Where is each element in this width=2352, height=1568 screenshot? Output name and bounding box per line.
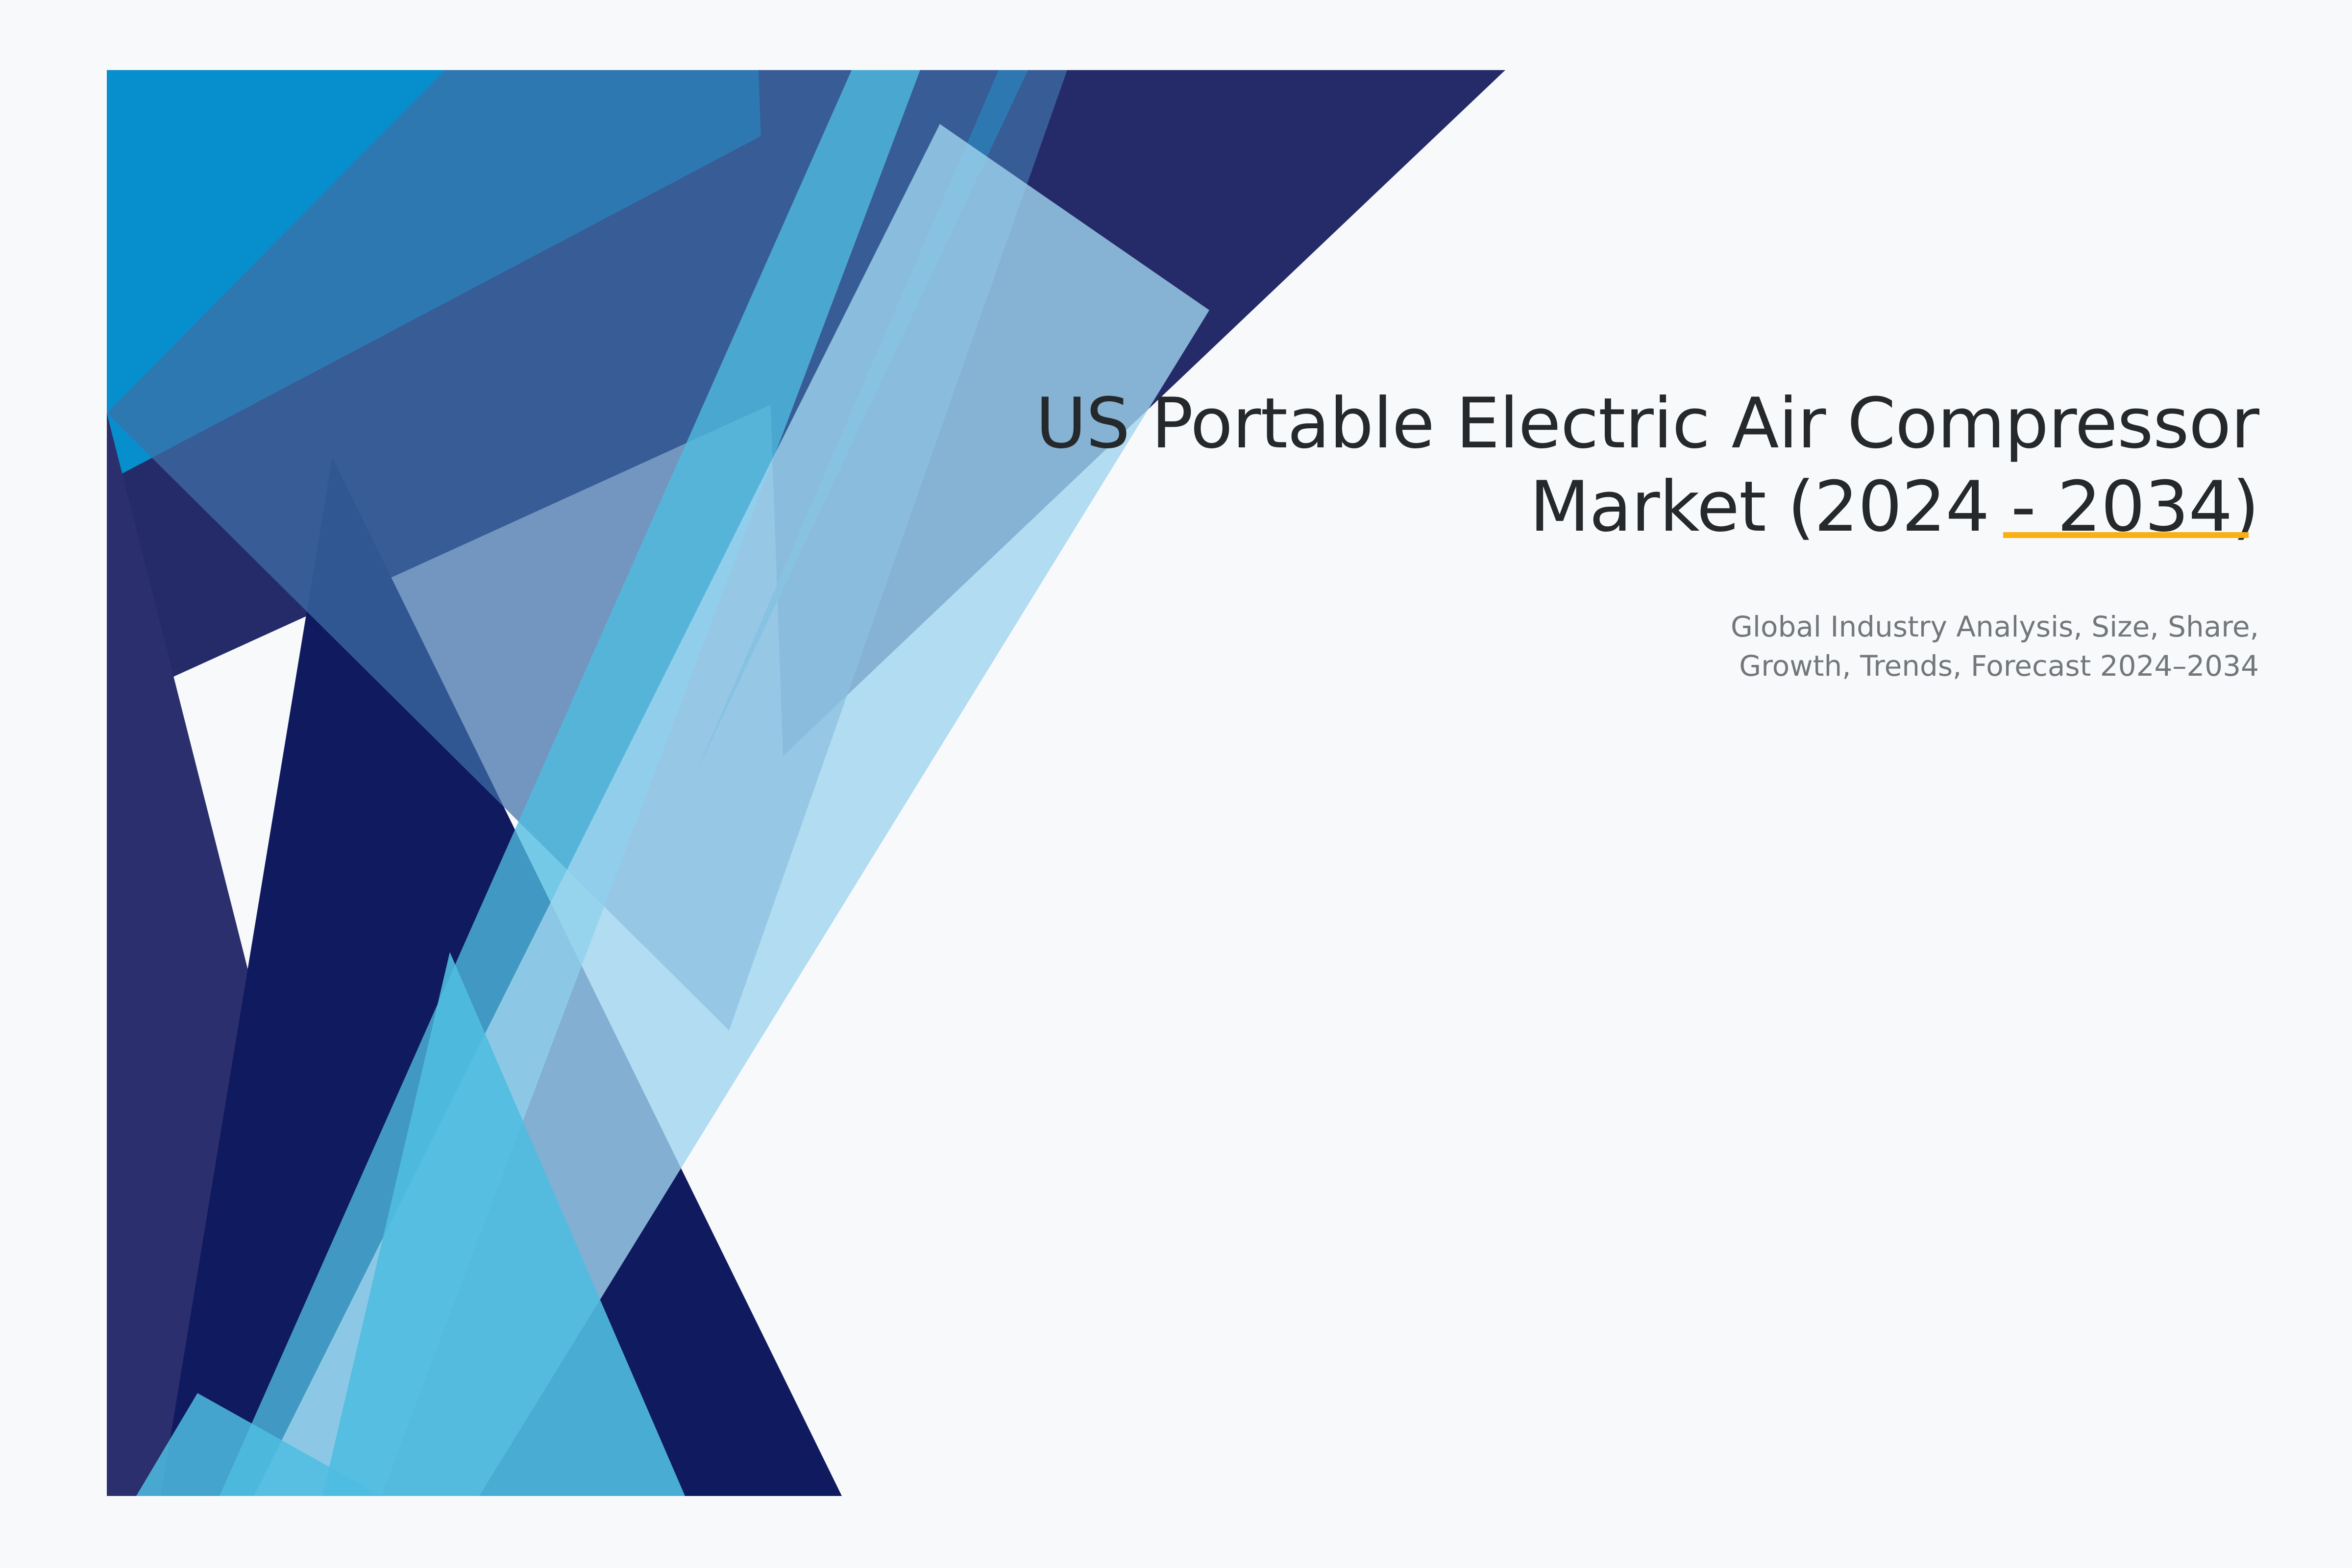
report-cover-page: US Portable Electric Air CompressorMarke… bbox=[0, 0, 2352, 1568]
page-title-line-1: US Portable Electric Air Compressor bbox=[1035, 383, 2259, 464]
title-underline-accent bbox=[2003, 532, 2249, 538]
page-subtitle-line-1: Global Industry Analysis, Size, Share, bbox=[784, 607, 2259, 646]
abstract-geometric-cover-graphic bbox=[107, 70, 1507, 1496]
page-subtitle: Global Industry Analysis, Size, Share,Gr… bbox=[784, 549, 2259, 686]
page-subtitle-line-2: Growth, Trends, Forecast 2024–2034 bbox=[784, 646, 2259, 686]
page-title: US Portable Electric Air CompressorMarke… bbox=[784, 382, 2259, 549]
